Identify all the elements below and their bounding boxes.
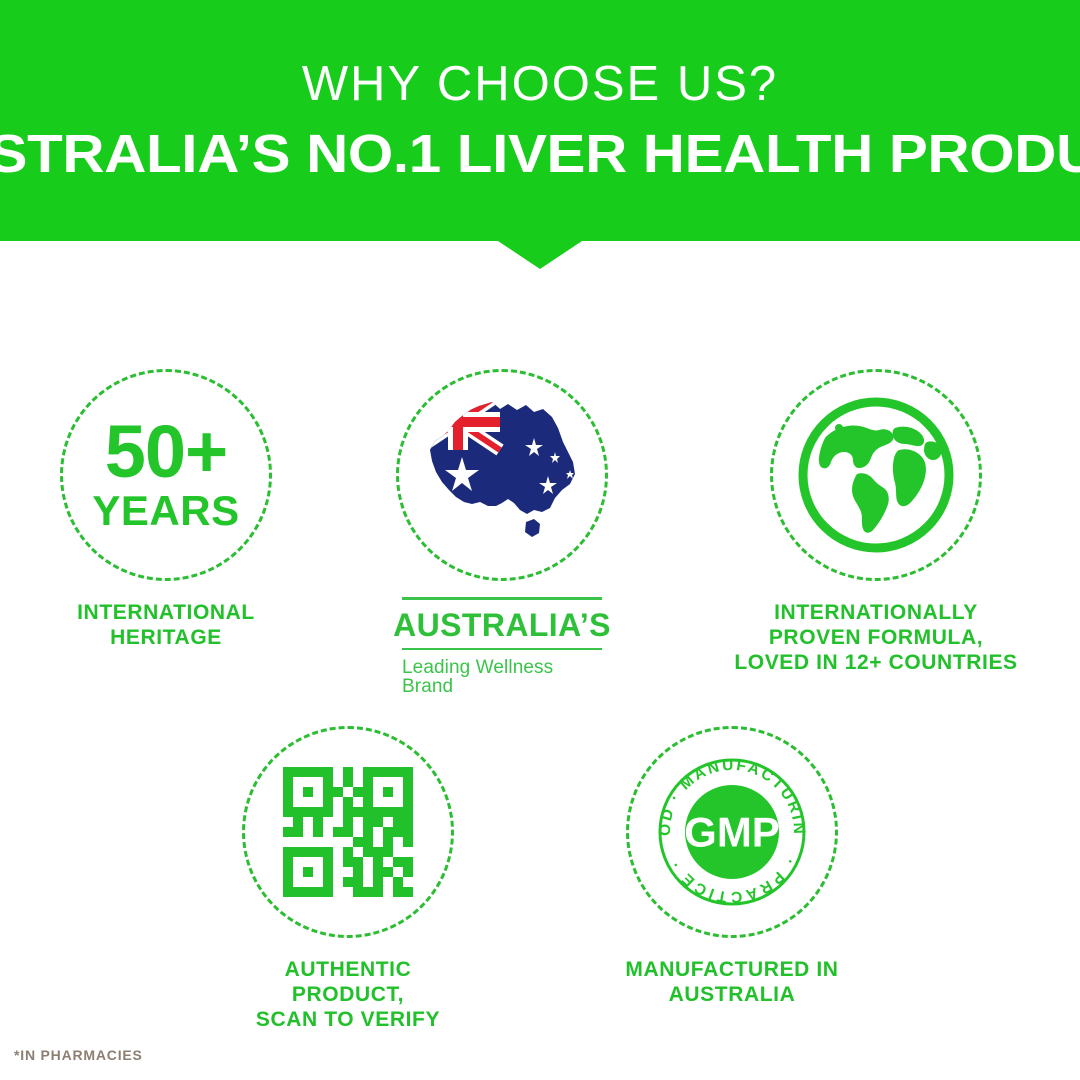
badge-caption: INTERNATIONAL HERITAGE [77, 601, 255, 651]
badge-row-top: 50+ YEARS INTERNATIONAL HERITAGE [0, 369, 1080, 696]
badge-international-heritage: 50+ YEARS INTERNATIONAL HERITAGE [54, 369, 278, 651]
header-headline: AUSTRALIA’S NO.1 LIVER HEALTH PRODUCT [0, 127, 1080, 181]
brand-title: AUSTRALIA’S [393, 609, 611, 641]
gmp-center-label: GMP [684, 809, 780, 856]
badge-grid: 50+ YEARS INTERNATIONAL HERITAGE [0, 241, 1080, 1080]
australia-mainland [422, 400, 582, 550]
globe-continents [819, 424, 942, 533]
dashed-circle-frame [396, 369, 608, 581]
globe-icon [795, 394, 957, 556]
rule-bottom [402, 648, 602, 650]
years-unit-label: YEARS [92, 490, 239, 532]
dashed-circle-frame: GOOD · MANUFACTURING · · PRACTICE · GMP [626, 726, 838, 938]
fifty-plus-years-icon: 50+ YEARS [92, 418, 239, 532]
qr-code-icon [283, 767, 413, 897]
dashed-circle-frame [770, 369, 982, 581]
badge-caption: MANUFACTURED IN AUSTRALIA [625, 958, 838, 1008]
header-text-block: WHY CHOOSE US? AUSTRALIA’S NO.1 LIVER HE… [0, 0, 1080, 241]
badge-australias-leading-brand: AUSTRALIA’S Leading Wellness Brand [390, 369, 614, 696]
australia-map-flag-icon [422, 400, 582, 550]
dashed-circle-frame [242, 726, 454, 938]
badge-authentic-product: AUTHENTIC PRODUCT, SCAN TO VERIFY [236, 726, 460, 1032]
rule-top [402, 597, 602, 600]
footnote-in-pharmacies: *IN PHARMACIES [14, 1048, 143, 1062]
brand-subtitle: Leading Wellness Brand [402, 658, 602, 696]
badge-caption: INTERNATIONALLY PROVEN FORMULA, LOVED IN… [734, 601, 1017, 675]
australias-brand-lockup: AUSTRALIA’S Leading Wellness Brand [402, 597, 602, 696]
header-kicker: WHY CHOOSE US? [302, 60, 778, 109]
badge-internationally-proven: INTERNATIONALLY PROVEN FORMULA, LOVED IN… [726, 369, 1026, 675]
gmp-seal-icon: GOOD · MANUFACTURING · · PRACTICE · GMP [647, 747, 817, 917]
badge-manufactured-in-australia: GOOD · MANUFACTURING · · PRACTICE · GMP … [620, 726, 844, 1008]
dashed-circle-frame: 50+ YEARS [60, 369, 272, 581]
badge-row-bottom: AUTHENTIC PRODUCT, SCAN TO VERIFY GOOD ·… [0, 726, 1080, 1032]
badge-caption: AUTHENTIC PRODUCT, SCAN TO VERIFY [236, 958, 460, 1032]
union-jack [422, 400, 500, 450]
years-number: 50+ [105, 418, 228, 486]
